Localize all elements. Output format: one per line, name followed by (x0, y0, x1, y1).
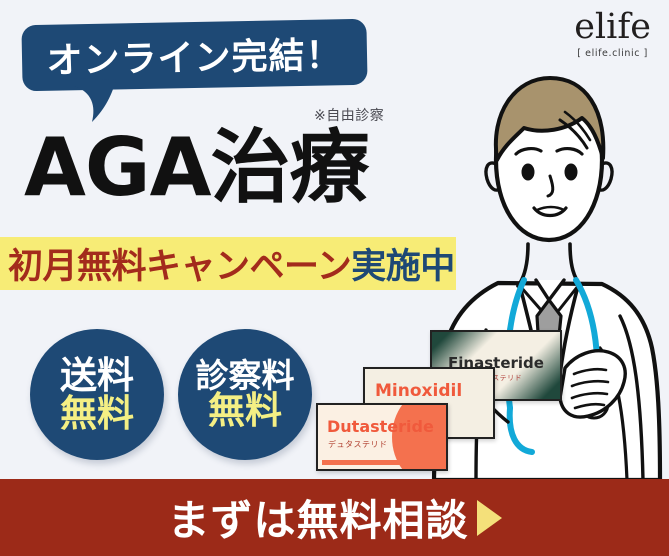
play-triangle-icon (477, 500, 502, 536)
elife-logo: elife [ elife.clinic ] (574, 10, 651, 59)
medicine-name-jp-dutasteride: デュタステリド (328, 439, 388, 450)
badge-free-consultation-label: 診察料 (196, 359, 295, 393)
aga-treatment-banner: elife [ elife.clinic ] オンライン完結！ ※自由診察 AG… (0, 0, 669, 556)
logo-tagline: [ elife.clinic ] (574, 49, 651, 59)
campaign-status-text: 実施中 (351, 238, 455, 289)
badge-free-consultation: 診察料 無料 (178, 329, 312, 460)
campaign-band: 初月無料キャンペーン 実施中 (0, 237, 456, 290)
cta-bar[interactable]: まずは無料相談 (0, 479, 669, 556)
medicine-name-minoxidil: Minoxidil (375, 381, 462, 401)
dutasteride-accent-bar (322, 460, 442, 465)
medicine-box-dutasteride: Dutasteride デュタステリド (316, 403, 448, 471)
badge-free-shipping-value: 無料 (60, 395, 134, 433)
badge-free-consultation-value: 無料 (208, 392, 282, 430)
badge-free-shipping: 送料 無料 (30, 329, 164, 460)
campaign-highlight-text: 初月無料キャンペーン (8, 238, 351, 289)
page-title: AGA治療 (24, 128, 369, 208)
medicine-name-dutasteride: Dutasteride (327, 417, 434, 436)
speech-bubble: オンライン完結！ (22, 22, 367, 88)
badge-free-shipping-label: 送料 (60, 357, 134, 395)
cta-label: まずは無料相談 (167, 487, 468, 548)
logo-wordmark: elife (574, 10, 651, 45)
speech-bubble-text: オンライン完結！ (21, 19, 367, 92)
